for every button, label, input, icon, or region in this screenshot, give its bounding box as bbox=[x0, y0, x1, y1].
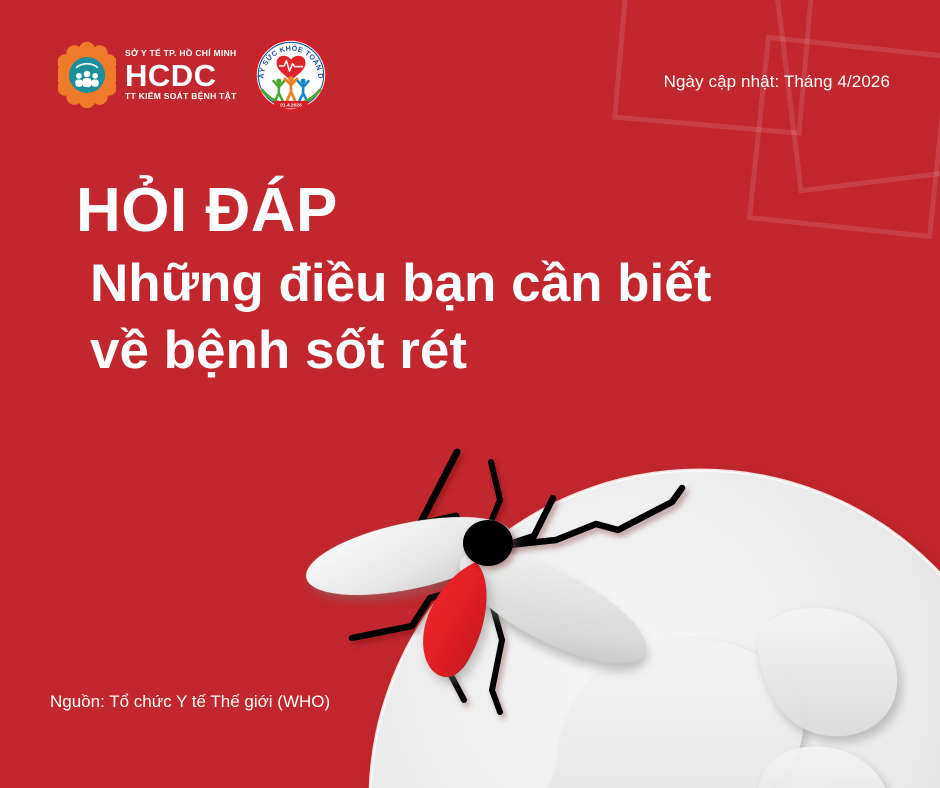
globe-illustration bbox=[370, 470, 940, 788]
health-day-banner-date: 01.4.2026 bbox=[280, 102, 302, 108]
title-block: HỎI ĐÁP Những điều bạn cần biết về bệnh … bbox=[76, 176, 711, 384]
mosquito-illustration bbox=[299, 452, 682, 712]
source-label: Nguồn: Tổ chức Y tế Thế giới (WHO) bbox=[50, 692, 330, 712]
hcdc-center-line: TT KIỂM SOÁT BỆNH TẬT bbox=[125, 92, 237, 101]
poster-header: SỞ Y TẾ TP. HỒ CHÍ MINH HCDC TT KIỂM SOÁ… bbox=[0, 0, 940, 150]
subtitle-line-1: Những điều bạn cần biết bbox=[90, 251, 711, 317]
page-title: HỎI ĐÁP bbox=[76, 176, 711, 245]
hcdc-acronym: HCDC bbox=[125, 60, 237, 91]
logo-group: SỞ Y TẾ TP. HỒ CHÍ MINH HCDC TT KIỂM SOÁ… bbox=[58, 37, 329, 113]
ngay-suc-khoe-toan-dan-icon: NGÀY SỨC KHỎE TOÀN DÂN 01.4.2026 bbox=[253, 37, 329, 113]
update-date-label: Ngày cập nhật: Tháng 4/2026 bbox=[664, 72, 890, 92]
hcdc-logo: SỞ Y TẾ TP. HỒ CHÍ MINH HCDC TT KIỂM SOÁ… bbox=[58, 39, 237, 111]
poster-canvas: SỞ Y TẾ TP. HỒ CHÍ MINH HCDC TT KIỂM SOÁ… bbox=[0, 0, 940, 788]
hcdc-wordmark: SỞ Y TẾ TP. HỒ CHÍ MINH HCDC TT KIỂM SOÁ… bbox=[125, 49, 237, 101]
hcdc-emblem-icon bbox=[58, 39, 116, 111]
subtitle-line-2: về bệnh sốt rét bbox=[90, 318, 711, 384]
